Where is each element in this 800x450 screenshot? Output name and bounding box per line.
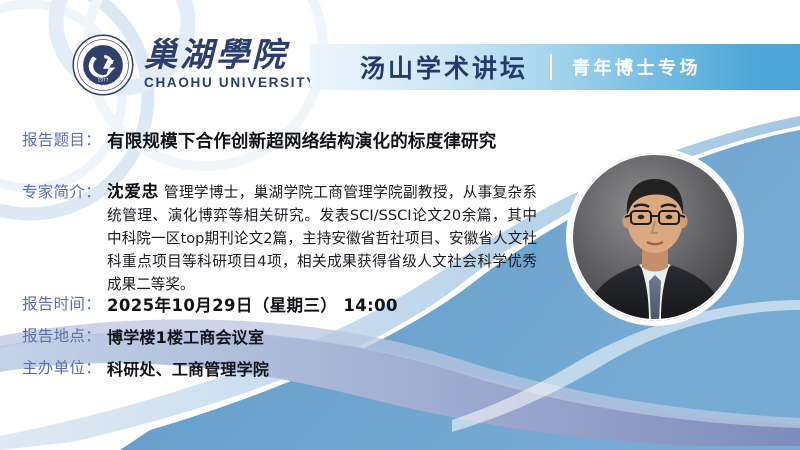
speaker-name: 沈爱忠 (107, 182, 159, 201)
row-report-title: 报告题目： 有限规模下合作创新超网络结构演化的标度律研究 (22, 128, 496, 153)
row-organizer: 主办单位： 科研处、工商管理学院 (22, 356, 269, 380)
label-speaker-bio: 专家简介： (22, 180, 101, 202)
value-report-place: 博学楼1楼工商会议室 (107, 324, 264, 348)
university-name-cn: 巢湖學院 (144, 38, 317, 73)
value-report-time: 2025年10月29日（星期三） 14:00 (107, 292, 398, 316)
label-report-time: 报告时间： (22, 292, 101, 314)
banner: 汤山学术讲坛 青年博士专场 (310, 44, 800, 90)
row-report-time: 报告时间： 2025年10月29日（星期三） 14:00 (22, 292, 398, 316)
speaker-bio-text: 沈爱忠 管理学博士，巢湖学院工商管理学院副教授，从事复杂系统管理、演化博弈等相关… (107, 180, 537, 296)
seminar-poster: 1977 巢湖学院 CHAOHU UNIVERSITY 巢湖學院 CHAOHU … (0, 0, 800, 450)
speaker-portrait-photo (571, 153, 739, 321)
banner-title: 汤山学术讲坛 (360, 49, 528, 85)
value-organizer: 科研处、工商管理学院 (107, 356, 269, 380)
university-name-en: CHAOHU UNIVERSITY (144, 75, 317, 90)
poster-header: 1977 巢湖学院 CHAOHU UNIVERSITY 巢湖學院 CHAOHU … (0, 0, 800, 118)
vertical-bar-divider-icon (550, 54, 552, 80)
speaker-bio-body: 管理学博士，巢湖学院工商管理学院副教授，从事复杂系统管理、演化博弈等相关研究。发… (107, 184, 537, 293)
speaker-portrait-frame (566, 148, 744, 326)
university-logo-block: 1977 巢湖学院 CHAOHU UNIVERSITY 巢湖學院 CHAOHU … (72, 34, 317, 96)
label-report-title: 报告题目： (22, 128, 101, 150)
value-report-title: 有限规模下合作创新超网络结构演化的标度律研究 (107, 128, 496, 153)
row-report-place: 报告地点： 博学楼1楼工商会议室 (22, 324, 264, 348)
row-speaker-bio: 专家简介： 沈爱忠 管理学博士，巢湖学院工商管理学院副教授，从事复杂系统管理、演… (22, 180, 542, 296)
university-wordmark: 巢湖學院 CHAOHU UNIVERSITY (144, 38, 317, 93)
label-report-place: 报告地点： (22, 324, 101, 346)
banner-subtitle: 青年博士专场 (572, 54, 701, 80)
chaohu-university-seal-icon: 1977 巢湖学院 CHAOHU UNIVERSITY (72, 34, 134, 96)
label-organizer: 主办单位： (22, 356, 101, 378)
